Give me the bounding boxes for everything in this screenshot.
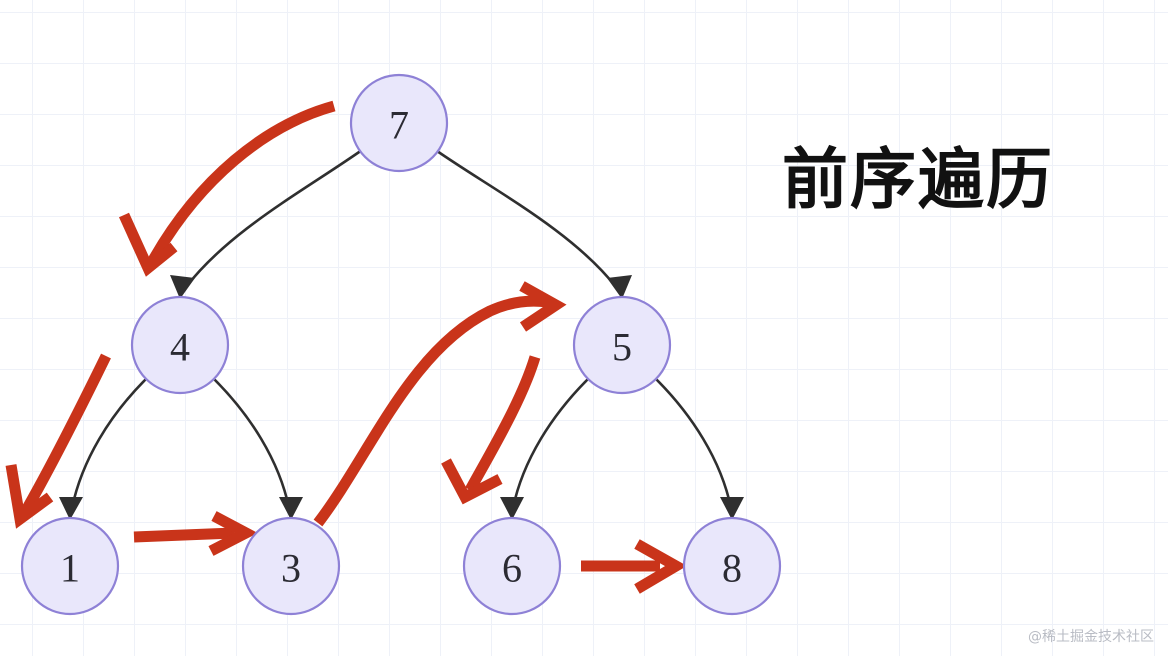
tree-node-3[interactable]: 3 [243,518,339,614]
tree-edge-arrowhead-1 [59,497,83,520]
node-label-8: 8 [722,546,742,591]
tree-edge-arrowhead-4 [170,275,195,299]
tree-node-7[interactable]: 7 [351,75,447,171]
watermark: @稀土掘金技术社区 [1028,626,1154,646]
traversal-arrow-7-4 [152,106,334,262]
node-label-5: 5 [612,325,632,370]
traversal-arrow-4-1 [25,356,106,512]
tree-node-6[interactable]: 6 [464,518,560,614]
tree-edge-5-8 [656,379,731,508]
tree-edge-7-4 [186,150,362,287]
tree-node-4[interactable]: 4 [132,297,228,393]
node-label-7: 7 [389,103,409,148]
node-label-3: 3 [281,546,301,591]
tree-edge-7-5 [437,151,616,287]
diagram-title: 前序遍历 [782,126,1054,222]
node-label-6: 6 [502,546,522,591]
node-label-4: 4 [170,325,190,370]
tree-edge-arrowhead-3 [279,497,303,520]
tree-node-8[interactable]: 8 [684,518,780,614]
diagram-canvas: 7 4 5 1 3 6 8 [0,0,1168,656]
tree-edge-arrowhead-5 [607,275,632,299]
tree-edge-arrowhead-6 [500,497,524,520]
tree-edge-arrowhead-8 [720,497,744,520]
tree-diagram-svg: 7 4 5 1 3 6 8 [0,0,1168,656]
tree-node-5[interactable]: 5 [574,297,670,393]
node-label-1: 1 [60,546,80,591]
tree-edge-4-3 [214,379,289,508]
tree-node-1[interactable]: 1 [22,518,118,614]
traversal-arrow-1-3 [134,533,234,537]
